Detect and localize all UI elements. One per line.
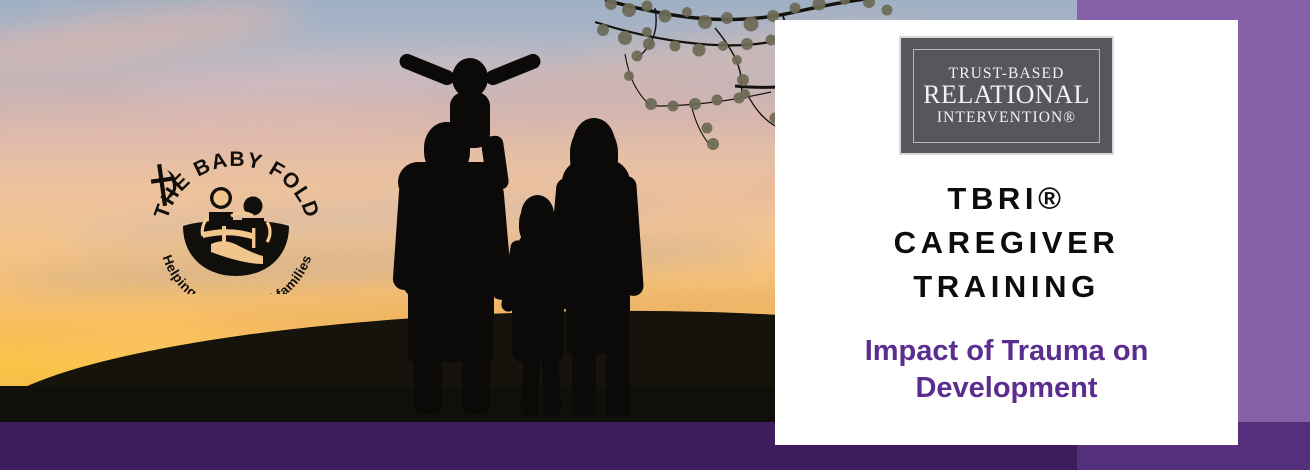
father-shorts: [408, 278, 494, 362]
joined-hands-right: [558, 286, 576, 300]
girl-left-leg: [520, 354, 540, 417]
training-info-card: TRUST-BASED RELATIONAL INTERVENTION® TBR…: [775, 20, 1238, 445]
tbri-logo-line-2: RELATIONAL: [923, 82, 1090, 109]
baby-fold-arc-text: THE BABY FOLD: [150, 148, 324, 222]
tbri-caregiver-training-banner: THE BABY FOLD: [0, 0, 1310, 470]
tbri-logo-line-1: TRUST-BASED: [949, 66, 1065, 82]
mother-left-leg: [572, 346, 596, 416]
father-left-leg: [414, 352, 442, 414]
card-title-line-2: CAREGIVER: [775, 221, 1238, 265]
tbri-logo-line-3: INTERVENTION®: [937, 110, 1076, 126]
girl-right-leg: [541, 354, 561, 417]
child-left-arm-raised: [397, 52, 456, 88]
tbri-trademark-logo: TRUST-BASED RELATIONAL INTERVENTION®: [899, 36, 1114, 155]
girl-head: [521, 195, 554, 234]
mother-right-leg: [606, 346, 630, 416]
tbri-logo-inner-frame: TRUST-BASED RELATIONAL INTERVENTION®: [913, 49, 1100, 143]
card-title-line-1: TBRI®: [775, 177, 1238, 221]
card-subtitle: Impact of Trauma on Development: [794, 333, 1220, 407]
mother-shorts: [566, 276, 630, 354]
father-right-leg: [462, 352, 490, 414]
baby-fold-logo: THE BABY FOLD: [143, 142, 329, 294]
card-title: TBRI® CAREGIVER TRAINING: [775, 177, 1238, 309]
joined-hands-left: [498, 286, 516, 300]
card-title-line-3: TRAINING: [775, 265, 1238, 309]
child-right-arm-raised: [483, 52, 542, 88]
